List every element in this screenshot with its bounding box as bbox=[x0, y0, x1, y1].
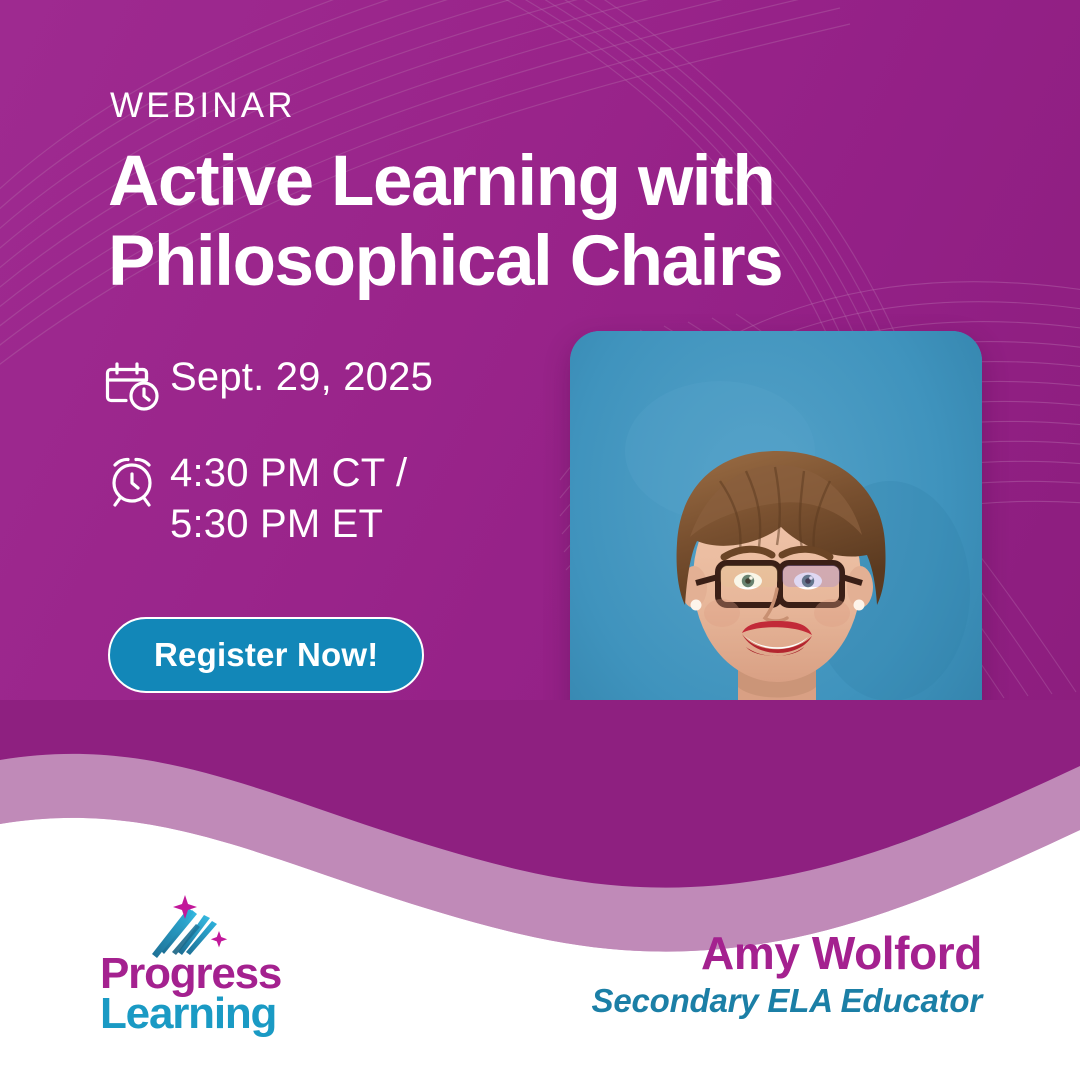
title-line-2: Philosophical Chairs bbox=[108, 222, 928, 302]
register-button[interactable]: Register Now! bbox=[108, 617, 424, 693]
logo-word-learning: Learning bbox=[100, 989, 276, 1038]
time-row: 4:30 PM CT / 5:30 PM ET bbox=[104, 448, 574, 550]
event-details: Sept. 29, 2025 4:30 PM CT / 5:30 PM ET bbox=[104, 352, 574, 584]
time-line-2: 5:30 PM ET bbox=[170, 502, 383, 546]
progress-learning-logo: Progress Learning bbox=[100, 888, 330, 1038]
speaker-role: Secondary ELA Educator bbox=[422, 981, 982, 1021]
webinar-poster: WEBINAR Active Learning with Philosophic… bbox=[0, 0, 1080, 1080]
eyebrow-label: WEBINAR bbox=[110, 88, 296, 123]
page-title: Active Learning with Philosophical Chair… bbox=[108, 142, 928, 302]
speaker-block: Amy Wolford Secondary ELA Educator bbox=[422, 928, 982, 1020]
date-row: Sept. 29, 2025 bbox=[104, 352, 574, 414]
speaker-name: Amy Wolford bbox=[422, 928, 982, 979]
date-text: Sept. 29, 2025 bbox=[170, 352, 433, 403]
alarm-clock-icon bbox=[104, 448, 170, 510]
time-text: 4:30 PM CT / 5:30 PM ET bbox=[170, 448, 407, 550]
title-line-1: Active Learning with bbox=[108, 142, 774, 221]
calendar-clock-icon bbox=[104, 352, 170, 414]
time-line-1: 4:30 PM CT / bbox=[170, 451, 407, 495]
